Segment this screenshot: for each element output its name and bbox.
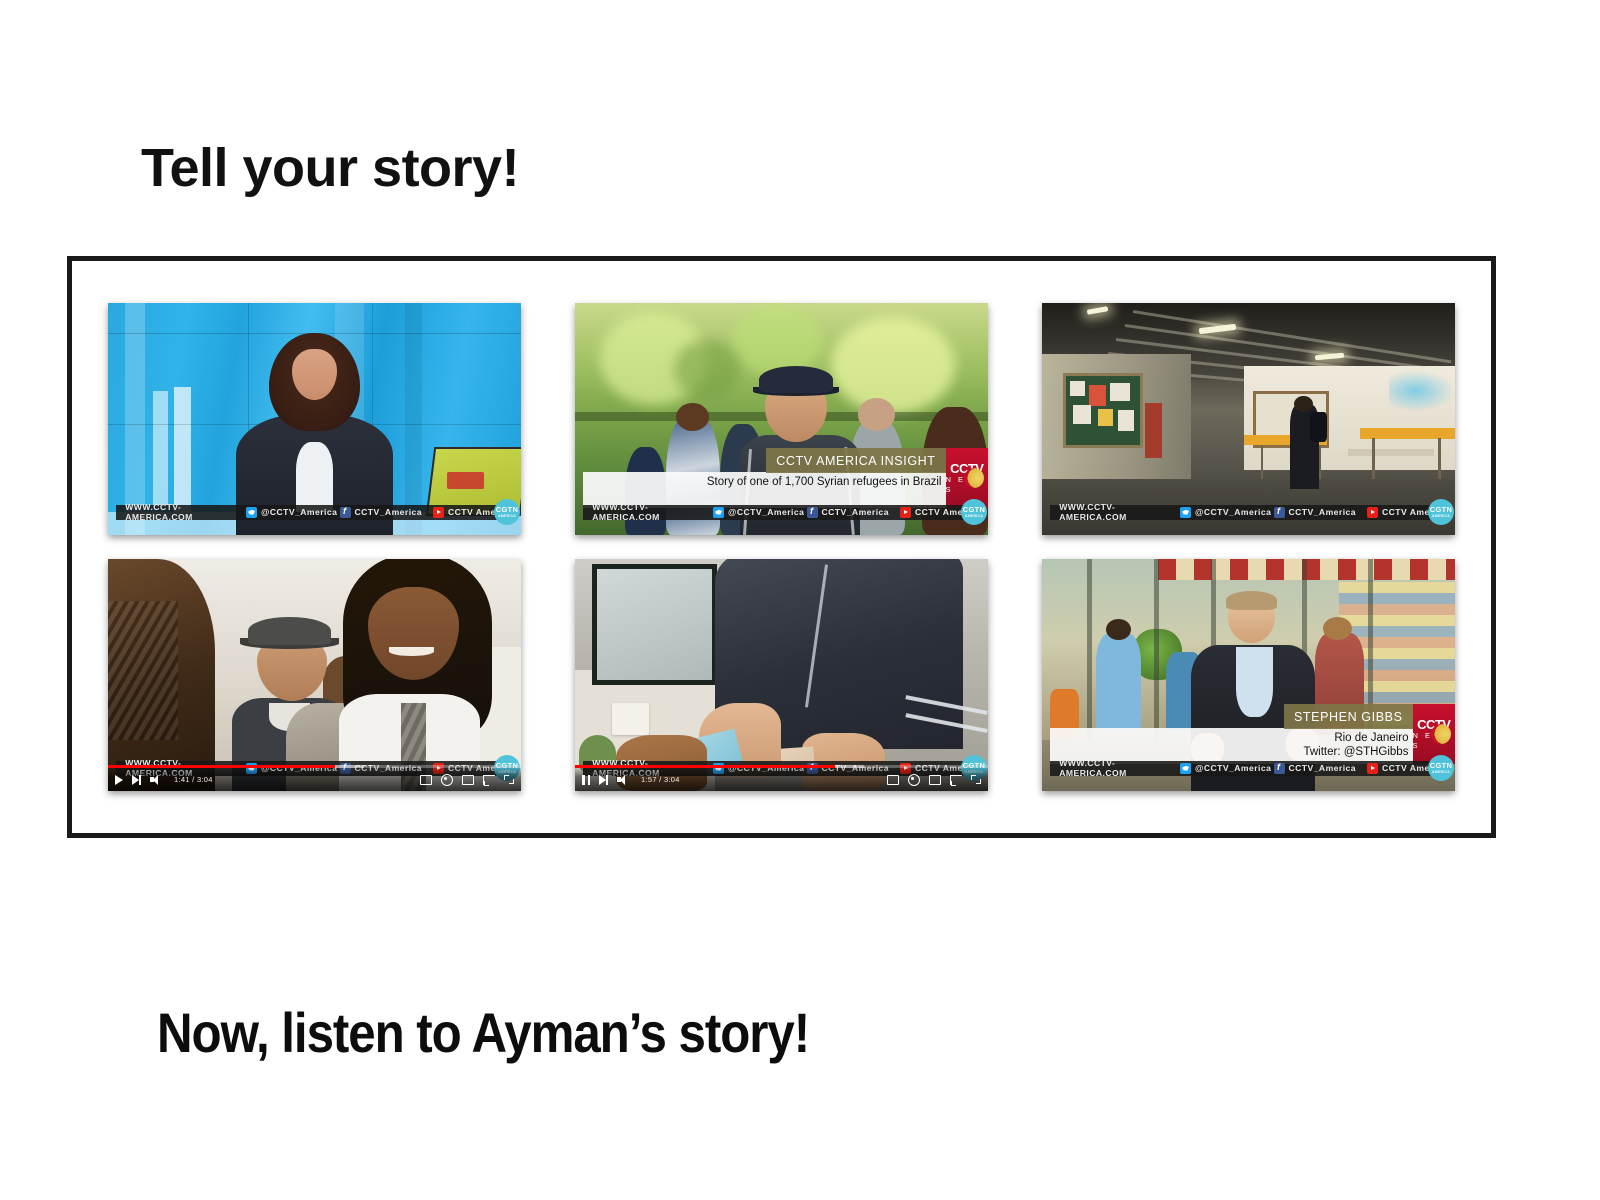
- scene-money-exchange: [575, 559, 988, 791]
- social-facebook: CCTV_America: [340, 507, 433, 518]
- video-thumbnail-classroom-crowd[interactable]: WWW.CCTV-AMERICA.COM @CCTV_America CCTV_…: [108, 559, 521, 791]
- social-website: WWW.CCTV-AMERICA.COM: [1050, 502, 1180, 522]
- cgtn-badge: CGTN AMERICA: [1428, 755, 1454, 781]
- settings-gear-icon[interactable]: [441, 774, 453, 786]
- youtube-icon: [1367, 507, 1378, 518]
- volume-icon[interactable]: [150, 775, 161, 785]
- cgtn-badge-sublabel: AMERICA: [965, 514, 983, 518]
- social-twitter-label: @CCTV_America: [1195, 507, 1271, 517]
- settings-gear-icon[interactable]: [908, 774, 920, 786]
- social-facebook: CCTV_America: [807, 507, 900, 518]
- theater-mode-icon[interactable]: [929, 775, 941, 785]
- facebook-icon: [340, 507, 351, 518]
- video-gallery-grid: WWW.CCTV-AMERICA.COM @CCTV_America CCTV_…: [72, 261, 1491, 833]
- subtitles-icon[interactable]: [420, 775, 432, 785]
- next-video-button[interactable]: [132, 775, 141, 785]
- social-website: WWW.CCTV-AMERICA.COM: [583, 502, 713, 522]
- cgtn-badge: CGTN AMERICA: [494, 499, 520, 525]
- social-strip: WWW.CCTV-AMERICA.COM @CCTV_America CCTV_…: [1050, 505, 1449, 520]
- video-thumbnail-school-corridor[interactable]: WWW.CCTV-AMERICA.COM @CCTV_America CCTV_…: [1042, 303, 1455, 535]
- page-title-top: Tell your story!: [141, 140, 519, 197]
- cgtn-badge-sublabel: AMERICA: [1432, 514, 1450, 518]
- cgtn-badge-label: CGTN: [1430, 761, 1452, 770]
- social-facebook: CCTV_America: [1274, 507, 1367, 518]
- social-website: WWW.CCTV-AMERICA.COM: [116, 502, 246, 522]
- video-player-controls[interactable]: 1:57 / 3:04: [575, 765, 988, 791]
- time-display: 1:41 / 3:04: [174, 775, 213, 784]
- cgtn-badge: CGTN AMERICA: [1428, 499, 1454, 525]
- social-strip: WWW.CCTV-AMERICA.COM @CCTV_America CCTV_…: [1050, 761, 1449, 776]
- social-facebook: CCTV_America: [1274, 763, 1367, 774]
- controls-left[interactable]: 1:41 / 3:04: [115, 775, 213, 785]
- video-player-controls[interactable]: 1:41 / 3:04: [108, 765, 521, 791]
- cgtn-badge-label: CGTN: [1430, 505, 1452, 514]
- video-thumbnail-rio-reporter[interactable]: STEPHEN GIBBS Rio de Janeiro Twitter: @S…: [1042, 559, 1455, 791]
- controls-right[interactable]: [887, 774, 981, 786]
- social-website-label: WWW.CCTV-AMERICA.COM: [592, 502, 713, 522]
- subtitles-icon[interactable]: [887, 775, 899, 785]
- youtube-icon: [433, 507, 444, 518]
- video-gallery-frame: WWW.CCTV-AMERICA.COM @CCTV_America CCTV_…: [67, 256, 1496, 838]
- facebook-icon: [1274, 763, 1285, 774]
- controls-row[interactable]: 1:57 / 3:04: [575, 768, 988, 791]
- video-thumbnail-money-exchange[interactable]: WWW.CCTV-AMERICA.COM @CCTV_America CCTV_…: [575, 559, 988, 791]
- miniplayer-icon[interactable]: [950, 775, 962, 785]
- cgtn-badge: CGTN AMERICA: [961, 499, 987, 525]
- theater-mode-icon[interactable]: [462, 775, 474, 785]
- social-strip: WWW.CCTV-AMERICA.COM @CCTV_America CCTV_…: [583, 505, 982, 520]
- facebook-icon: [807, 507, 818, 518]
- cgtn-badge-label: CGTN: [496, 505, 518, 514]
- twitter-icon: [1180, 507, 1191, 518]
- cgtn-badge-sublabel: AMERICA: [498, 514, 516, 518]
- controls-right[interactable]: [420, 774, 514, 786]
- controls-left[interactable]: 1:57 / 3:04: [582, 775, 680, 785]
- scene-anchor-studio: [108, 303, 521, 535]
- next-video-button[interactable]: [599, 775, 608, 785]
- scene-classroom-crowd: [108, 559, 521, 791]
- video-thumbnail-syrian-refugee[interactable]: CCTV AMERICA INSIGHT Story of one of 1,7…: [575, 303, 988, 535]
- fullscreen-icon[interactable]: [504, 775, 514, 784]
- social-twitter-label: @CCTV_America: [1195, 763, 1271, 773]
- social-twitter-label: @CCTV_America: [261, 507, 337, 517]
- social-facebook-label: CCTV_America: [355, 507, 423, 517]
- miniplayer-icon[interactable]: [483, 775, 495, 785]
- bulletin-board: [1063, 373, 1143, 449]
- social-facebook-label: CCTV_America: [822, 507, 890, 517]
- scene-rio-reporter: [1042, 559, 1455, 791]
- social-twitter-label: @CCTV_America: [728, 507, 804, 517]
- social-website: WWW.CCTV-AMERICA.COM: [1050, 758, 1180, 778]
- social-twitter: @CCTV_America: [246, 507, 339, 518]
- social-twitter: @CCTV_America: [1180, 507, 1273, 518]
- social-website-label: WWW.CCTV-AMERICA.COM: [1059, 758, 1180, 778]
- social-facebook-label: CCTV_America: [1289, 507, 1357, 517]
- controls-row[interactable]: 1:41 / 3:04: [108, 768, 521, 791]
- social-website-label: WWW.CCTV-AMERICA.COM: [1059, 502, 1180, 522]
- social-twitter: @CCTV_America: [1180, 763, 1273, 774]
- scene-school-corridor: [1042, 303, 1455, 535]
- twitter-icon: [713, 507, 724, 518]
- play-button[interactable]: [115, 775, 123, 785]
- cgtn-badge-sublabel: AMERICA: [1432, 770, 1450, 774]
- twitter-icon: [1180, 763, 1191, 774]
- volume-icon[interactable]: [617, 775, 628, 785]
- video-thumbnail-anchor-studio[interactable]: WWW.CCTV-AMERICA.COM @CCTV_America CCTV_…: [108, 303, 521, 535]
- youtube-icon: [1367, 763, 1378, 774]
- page-title-bottom: Now, listen to Ayman’s story!: [157, 1004, 809, 1063]
- cgtn-badge-label: CGTN: [963, 505, 985, 514]
- time-display: 1:57 / 3:04: [641, 775, 680, 784]
- social-strip: WWW.CCTV-AMERICA.COM @CCTV_America CCTV_…: [116, 505, 515, 520]
- youtube-icon: [900, 507, 911, 518]
- pause-button[interactable]: [582, 775, 590, 785]
- social-website-label: WWW.CCTV-AMERICA.COM: [125, 502, 246, 522]
- social-twitter: @CCTV_America: [713, 507, 806, 518]
- twitter-icon: [246, 507, 257, 518]
- fullscreen-icon[interactable]: [971, 775, 981, 784]
- facebook-icon: [1274, 507, 1285, 518]
- scene-syrian-refugee: [575, 303, 988, 535]
- social-facebook-label: CCTV_America: [1289, 763, 1357, 773]
